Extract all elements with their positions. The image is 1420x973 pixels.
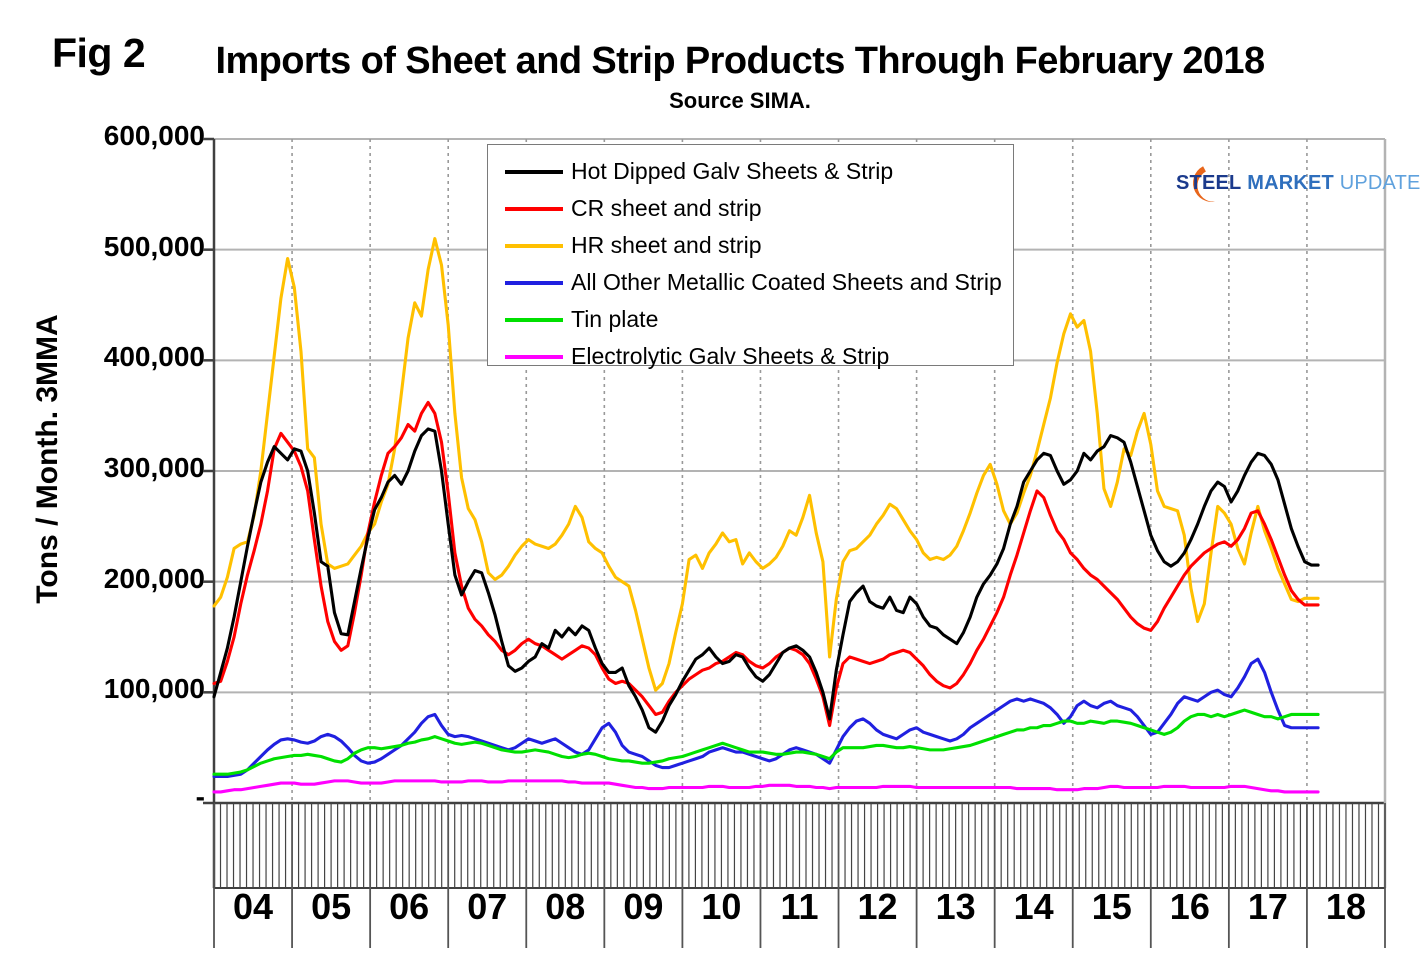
series-line	[214, 710, 1318, 774]
chart-legend: Hot Dipped Galv Sheets & Strip CR sheet …	[487, 144, 1014, 366]
logo-word-steel: STEEL	[1176, 172, 1241, 194]
legend-color-swatch	[505, 281, 563, 285]
legend-item-label: CR sheet and strip	[571, 195, 761, 222]
legend-item-label: Hot Dipped Galv Sheets & Strip	[571, 158, 893, 185]
steel-market-update-logo: STEEL MARKET UPDATE	[1176, 158, 1376, 210]
legend-item[interactable]: CR sheet and strip	[488, 190, 1013, 227]
legend-color-swatch	[505, 244, 563, 248]
series-line	[214, 429, 1318, 732]
legend-item-label: Electrolytic Galv Sheets & Strip	[571, 343, 889, 370]
legend-item-label: HR sheet and strip	[571, 232, 761, 259]
legend-item-label: Tin plate	[571, 306, 658, 333]
logo-word-market: MARKET	[1247, 172, 1334, 194]
legend-color-swatch	[505, 207, 563, 211]
legend-item[interactable]: HR sheet and strip	[488, 227, 1013, 264]
legend-item-label: All Other Metallic Coated Sheets and Str…	[571, 269, 1002, 296]
legend-item[interactable]: All Other Metallic Coated Sheets and Str…	[488, 264, 1013, 301]
legend-item[interactable]: Electrolytic Galv Sheets & Strip	[488, 338, 1013, 375]
legend-color-swatch	[505, 355, 563, 359]
logo-word-update: UPDATE	[1340, 172, 1420, 194]
legend-color-swatch	[505, 318, 563, 322]
legend-color-swatch	[505, 170, 563, 174]
legend-item[interactable]: Hot Dipped Galv Sheets & Strip	[488, 153, 1013, 190]
series-line	[214, 781, 1318, 792]
legend-item[interactable]: Tin plate	[488, 301, 1013, 338]
